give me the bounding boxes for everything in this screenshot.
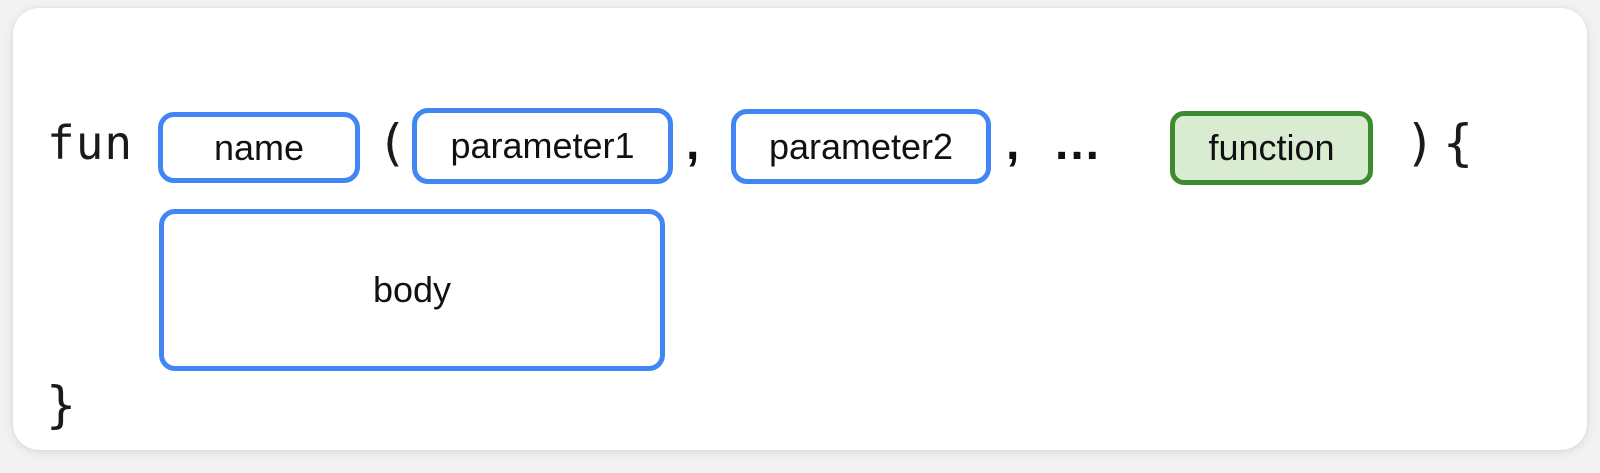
slot-function[interactable]: function	[1170, 111, 1373, 185]
brace-close: }	[46, 380, 76, 430]
slot-parameter1-label: parameter1	[450, 125, 634, 167]
slot-body[interactable]: body	[159, 209, 665, 371]
brace-open: {	[1443, 118, 1473, 168]
comma-separator-2: ,	[1006, 120, 1019, 168]
diagram-card: fun name ( parameter1 , parameter2 , ...…	[13, 8, 1587, 450]
slot-parameter2[interactable]: parameter2	[731, 109, 991, 184]
slot-parameter1[interactable]: parameter1	[412, 108, 673, 184]
slot-parameter2-label: parameter2	[769, 126, 953, 168]
slot-function-label: function	[1208, 127, 1334, 169]
diagram-canvas: fun name ( parameter1 , parameter2 , ...…	[0, 0, 1600, 473]
slot-body-label: body	[373, 269, 451, 311]
ellipsis-icon: ...	[1055, 120, 1101, 168]
slot-name[interactable]: name	[158, 112, 360, 183]
keyword-fun: fun	[47, 120, 133, 166]
paren-close: )	[1405, 118, 1435, 168]
slot-name-label: name	[214, 127, 304, 169]
paren-open: (	[377, 118, 407, 168]
comma-separator-1: ,	[686, 120, 699, 168]
